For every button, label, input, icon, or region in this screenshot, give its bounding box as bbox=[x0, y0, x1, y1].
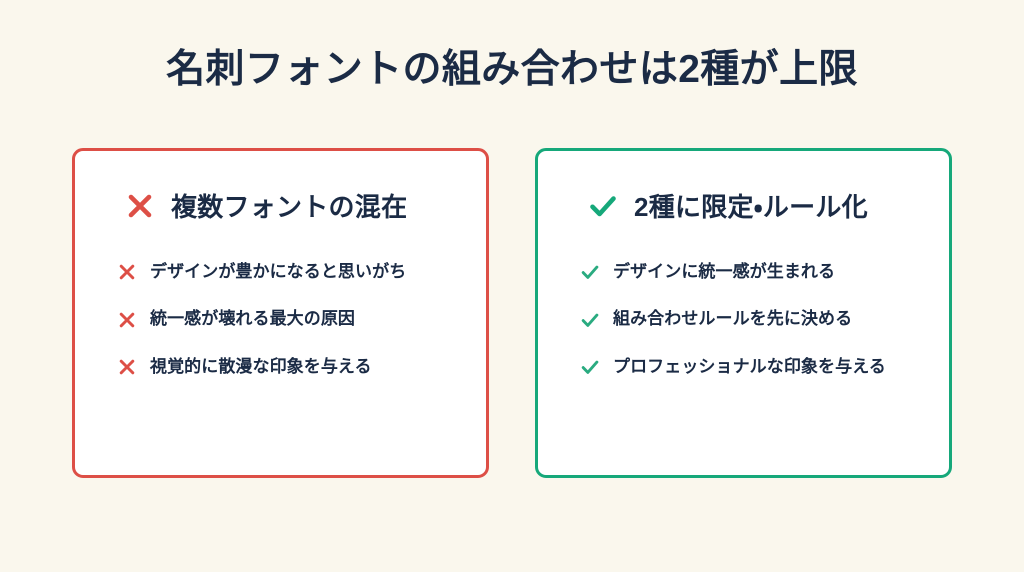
card-positive-heading: 2種に限定・ルール化 bbox=[564, 187, 923, 224]
list-item: 統一感が壊れる最大の原因 bbox=[117, 309, 460, 329]
card-negative-title: 複数フォントの混在 bbox=[171, 187, 407, 224]
list-item-label: 組み合わせルールを先に決める bbox=[613, 309, 852, 329]
list-item: デザインに統一感が生まれる bbox=[580, 262, 923, 282]
list-item: プロフェッショナルな印象を与える bbox=[580, 357, 923, 377]
list-item-label: デザインに統一感が生まれる bbox=[613, 262, 835, 282]
check-icon bbox=[580, 262, 600, 282]
card-negative: 複数フォントの混在 デザインが豊かになると思いがち bbox=[72, 148, 489, 478]
list-item-label: デザインが豊かになると思いがち bbox=[150, 262, 406, 282]
cross-icon bbox=[117, 262, 137, 282]
cross-icon bbox=[117, 310, 137, 330]
check-icon bbox=[580, 310, 600, 330]
card-negative-list: デザインが豊かになると思いがち 統一感が壊れる最大の原因 bbox=[101, 262, 460, 377]
card-positive-title: 2種に限定・ルール化 bbox=[634, 187, 868, 224]
cross-icon bbox=[117, 357, 137, 377]
list-item: デザインが豊かになると思いがち bbox=[117, 262, 460, 282]
card-negative-heading: 複数フォントの混在 bbox=[101, 187, 460, 224]
check-icon bbox=[588, 191, 618, 221]
cross-icon bbox=[125, 191, 155, 221]
card-positive-list: デザインに統一感が生まれる 組み合わせルールを先に決める bbox=[564, 262, 923, 377]
list-item-label: 視覚的に散漫な印象を与える bbox=[150, 357, 372, 377]
list-item: 組み合わせルールを先に決める bbox=[580, 309, 923, 329]
card-positive: 2種に限定・ルール化 デザインに統一感が生まれる bbox=[535, 148, 952, 478]
list-item: 視覚的に散漫な印象を与える bbox=[117, 357, 460, 377]
list-item-label: プロフェッショナルな印象を与える bbox=[613, 357, 886, 377]
check-icon bbox=[580, 357, 600, 377]
list-item-label: 統一感が壊れる最大の原因 bbox=[150, 309, 355, 329]
page-title: 名刺フォントの組み合わせは2種が上限 bbox=[0, 46, 1024, 95]
comparison-cards: 複数フォントの混在 デザインが豊かになると思いがち bbox=[72, 148, 952, 478]
slide-root: 名刺フォントの組み合わせは2種が上限 複数フォントの混在 bbox=[0, 0, 1024, 572]
